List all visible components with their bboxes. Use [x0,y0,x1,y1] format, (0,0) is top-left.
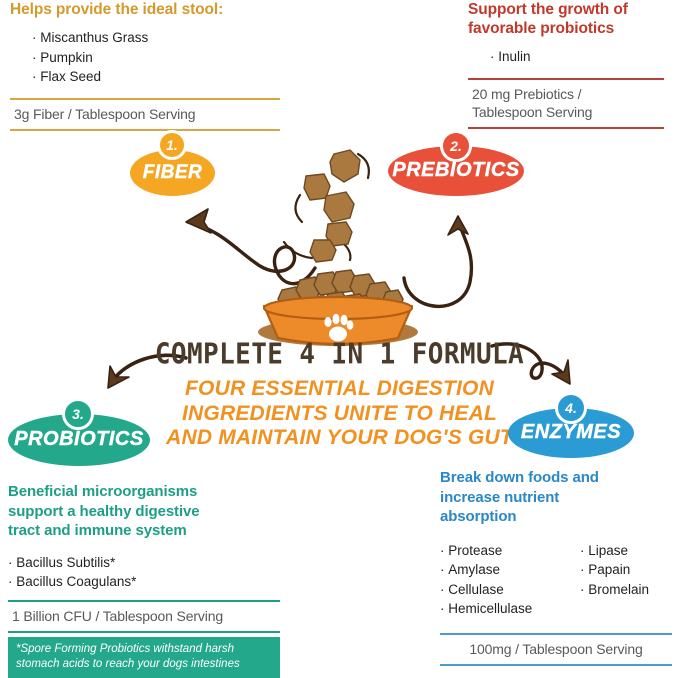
list-item: · Bacillus Coagulans* [8,572,280,592]
list-item: · Flax Seed [32,67,280,87]
fiber-serving-block: 3g Fiber / Tablespoon Serving [10,98,280,131]
list-item-label: Protease [448,543,502,558]
list-item: · Bromelain [580,580,672,600]
enzymes-panel-heading: Break down foods and increase nutrient a… [440,468,672,527]
badge-fiber[interactable]: 1. FIBER [130,140,215,196]
bullet-dot-icon: · [580,543,585,558]
heading-line: tract and immune system [8,521,280,541]
badge-fiber-label: FIBER [130,162,215,184]
probiotics-serving-text: 1 Billion CFU / Tablespoon Serving [8,602,280,631]
heading-line: Break down foods and [440,468,672,488]
heading-line: absorption [440,507,672,527]
list-item-label: Bacillus Subtilis* [16,555,115,570]
prebiotics-panel: Support the growth of favorable probioti… [468,0,664,129]
badge-prebiotics-number: 2. [440,130,472,162]
badge-probiotics-number: 3. [62,398,94,430]
page-title: COMPLETE 4 IN 1 FORMULA [0,339,679,371]
badge-probiotics-label: PROBIOTICS [8,428,150,451]
list-item: · Papain [580,560,672,580]
prebiotics-serving-text: 20 mg Prebiotics / Tablespoon Serving [468,80,664,127]
bullet-dot-icon: · [8,574,13,589]
list-item-label: Amylase [448,562,500,577]
enzymes-bullet-columns: · Protease · Amylase · Cellulase · Hemic… [440,541,672,619]
fiber-panel: Helps provide the ideal stool: · Miscant… [10,0,280,131]
prebiotics-panel-heading: Support the growth of favorable probioti… [468,0,664,38]
divider [440,664,672,666]
heading-line: support a healthy digestive [8,502,280,522]
badge-enzymes-label: ENZYMES [508,421,634,444]
serving-line: 20 mg Prebiotics / [472,85,660,103]
badge-number-label: 3. [72,406,84,422]
heading-line: Support the growth of [468,0,664,19]
badge-number-label: 4. [565,400,577,416]
footnote-line: *Spore Forming Probiotics withstand hars… [16,642,272,657]
heading-line: increase nutrient [440,488,672,508]
bullet-dot-icon: · [440,582,445,597]
list-item-label: Bacillus Coagulans* [16,574,136,589]
enzymes-bullet-list-col1: · Protease · Amylase · Cellulase · Hemic… [440,541,580,619]
bullet-dot-icon: · [32,69,37,84]
divider [10,129,280,131]
badge-probiotics[interactable]: 3. PROBIOTICS [8,398,150,466]
bullet-dot-icon: · [580,562,585,577]
prebiotics-bullet-list: · Inulin [468,47,664,67]
list-item-label: Cellulase [448,582,504,597]
bullet-dot-icon: · [32,30,37,45]
bullet-dot-icon: · [32,50,37,65]
list-item-label: Lipase [588,543,628,558]
list-item: · Pumpkin [32,48,280,68]
probiotics-serving-block: 1 Billion CFU / Tablespoon Serving [8,600,280,633]
bullet-dot-icon: · [490,49,495,64]
prebiotics-serving-block: 20 mg Prebiotics / Tablespoon Serving [468,78,664,129]
list-item: · Lipase [580,541,672,561]
badge-fiber-number: 1. [157,130,187,160]
divider [8,631,280,633]
probiotics-bullet-list: · Bacillus Subtilis* · Bacillus Coagulan… [8,553,280,592]
bullet-dot-icon: · [580,582,585,597]
probiotics-panel-heading: Beneficial microorganisms support a heal… [8,482,280,541]
badge-prebiotics[interactable]: 2. PREBIOTICS [388,130,524,196]
list-item: · Protease [440,541,580,561]
enzymes-bullet-list-col2: · Lipase · Papain · Bromelain [580,541,672,619]
heading-line: Beneficial microorganisms [8,482,280,502]
enzymes-panel: Break down foods and increase nutrient a… [440,468,672,666]
list-item-label: Flax Seed [40,69,101,84]
bullet-dot-icon: · [8,555,13,570]
list-item: · Amylase [440,560,580,580]
list-item-label: Miscanthus Grass [40,30,148,45]
fiber-bullet-list: · Miscanthus Grass · Pumpkin · Flax Seed [10,28,280,87]
list-item: · Hemicellulase [440,599,580,619]
list-item: · Miscanthus Grass [32,28,280,48]
probiotics-panel: Beneficial microorganisms support a heal… [8,482,280,678]
list-item: · Bacillus Subtilis* [8,553,280,573]
probiotics-footnote: *Spore Forming Probiotics withstand hars… [8,637,280,678]
list-item: · Inulin [490,47,664,67]
bullet-dot-icon: · [440,601,445,616]
badge-enzymes[interactable]: 4. ENZYMES [508,392,634,458]
list-item-label: Papain [588,562,630,577]
enzymes-serving-text: 100mg / Tablespoon Serving [440,635,672,664]
footnote-line: stomach acids to reach your dogs intesti… [16,657,272,672]
badge-number-label: 2. [450,138,462,154]
bullet-dot-icon: · [440,543,445,558]
badge-prebiotics-label: PREBIOTICS [388,159,524,182]
list-item-label: Inulin [498,49,530,64]
heading-line: favorable probiotics [468,19,664,38]
badge-number-label: 1. [166,137,178,153]
list-item: · Cellulase [440,580,580,600]
list-item-label: Bromelain [588,582,649,597]
serving-line: Tablespoon Serving [472,103,660,121]
list-item-label: Hemicellulase [448,601,532,616]
badge-enzymes-number: 4. [555,392,587,424]
fiber-serving-text: 3g Fiber / Tablespoon Serving [10,100,280,129]
list-item-label: Pumpkin [40,50,93,65]
bullet-dot-icon: · [440,562,445,577]
enzymes-serving-block: 100mg / Tablespoon Serving [440,633,672,666]
fiber-panel-heading: Helps provide the ideal stool: [10,0,280,19]
divider [468,127,664,129]
